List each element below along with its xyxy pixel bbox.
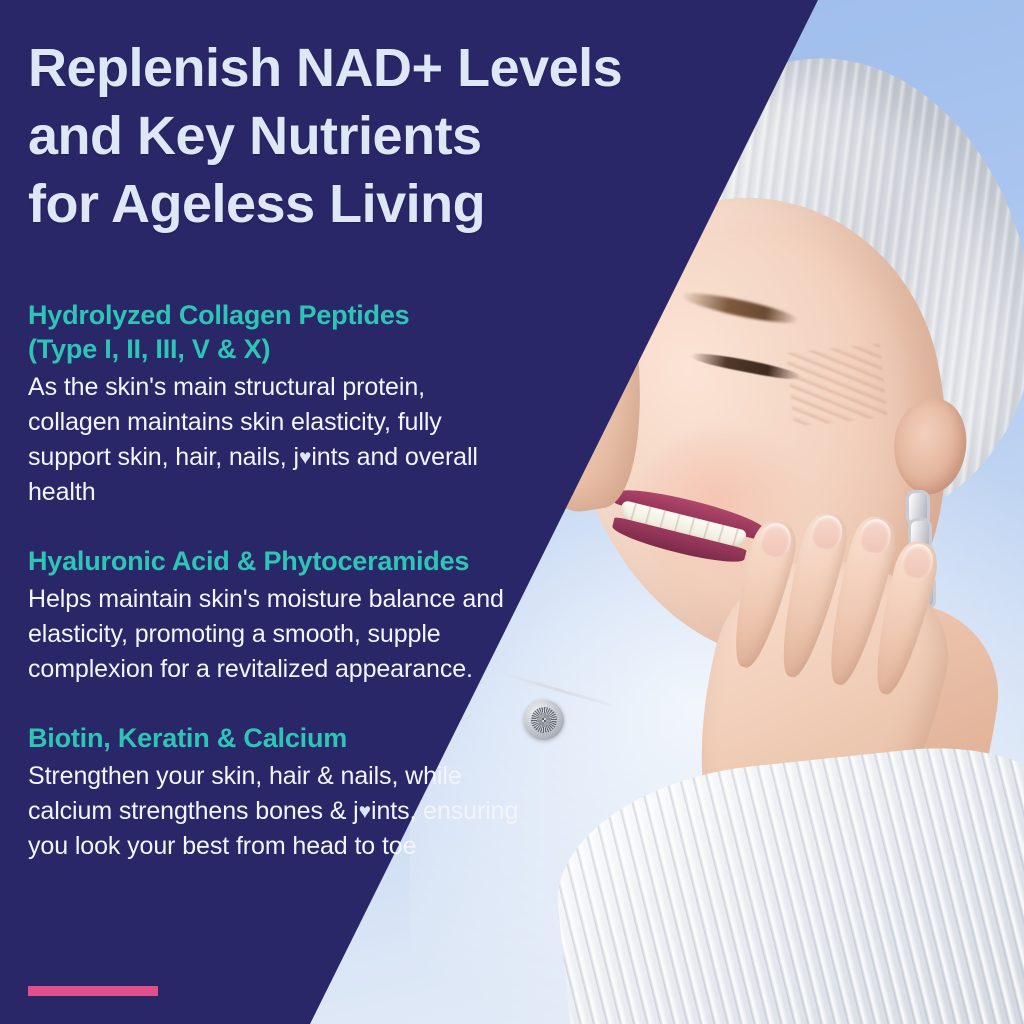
section-title: Hyaluronic Acid & Phytoceramides: [28, 544, 520, 578]
section-body: Helps maintain skin's moisture balance a…: [28, 582, 520, 687]
benefit-sections: Hydrolyzed Collagen Peptides (Type I, II…: [28, 298, 520, 864]
promo-poster: Replenish NAD+ Levels and Key Nutrients …: [0, 0, 1024, 1024]
pink-accent-bar: [28, 986, 158, 996]
headline-line-2: and Key Nutrients: [28, 102, 788, 170]
section-body-part-1: Helps maintain skin's moisture balance a…: [28, 585, 504, 683]
section-title-line-2: (Type I, II, III, V & X): [28, 332, 520, 366]
section-title-line-1: Hydrolyzed Collagen Peptides: [28, 298, 520, 332]
section-body: As the skin's main structural protein, c…: [28, 370, 520, 510]
benefit-section-biotin: Biotin, Keratin & Calcium Strengthen you…: [28, 721, 520, 864]
headline-line-3: for Ageless Living: [28, 170, 788, 238]
text-content: Replenish NAD+ Levels and Key Nutrients …: [0, 0, 1024, 1024]
section-title-line-1: Biotin, Keratin & Calcium: [28, 721, 520, 755]
heart-icon: ♥: [359, 800, 371, 823]
heart-icon: ♥: [299, 446, 311, 469]
benefit-section-collagen: Hydrolyzed Collagen Peptides (Type I, II…: [28, 298, 520, 510]
page-title: Replenish NAD+ Levels and Key Nutrients …: [28, 34, 788, 238]
section-body: Strengthen your skin, hair & nails, whil…: [28, 759, 520, 864]
section-title: Hydrolyzed Collagen Peptides (Type I, II…: [28, 298, 520, 366]
headline-line-1: Replenish NAD+ Levels: [28, 34, 788, 102]
section-title: Biotin, Keratin & Calcium: [28, 721, 520, 755]
section-title-line-1: Hyaluronic Acid & Phytoceramides: [28, 544, 520, 578]
benefit-section-hyaluronic: Hyaluronic Acid & Phytoceramides Helps m…: [28, 544, 520, 687]
